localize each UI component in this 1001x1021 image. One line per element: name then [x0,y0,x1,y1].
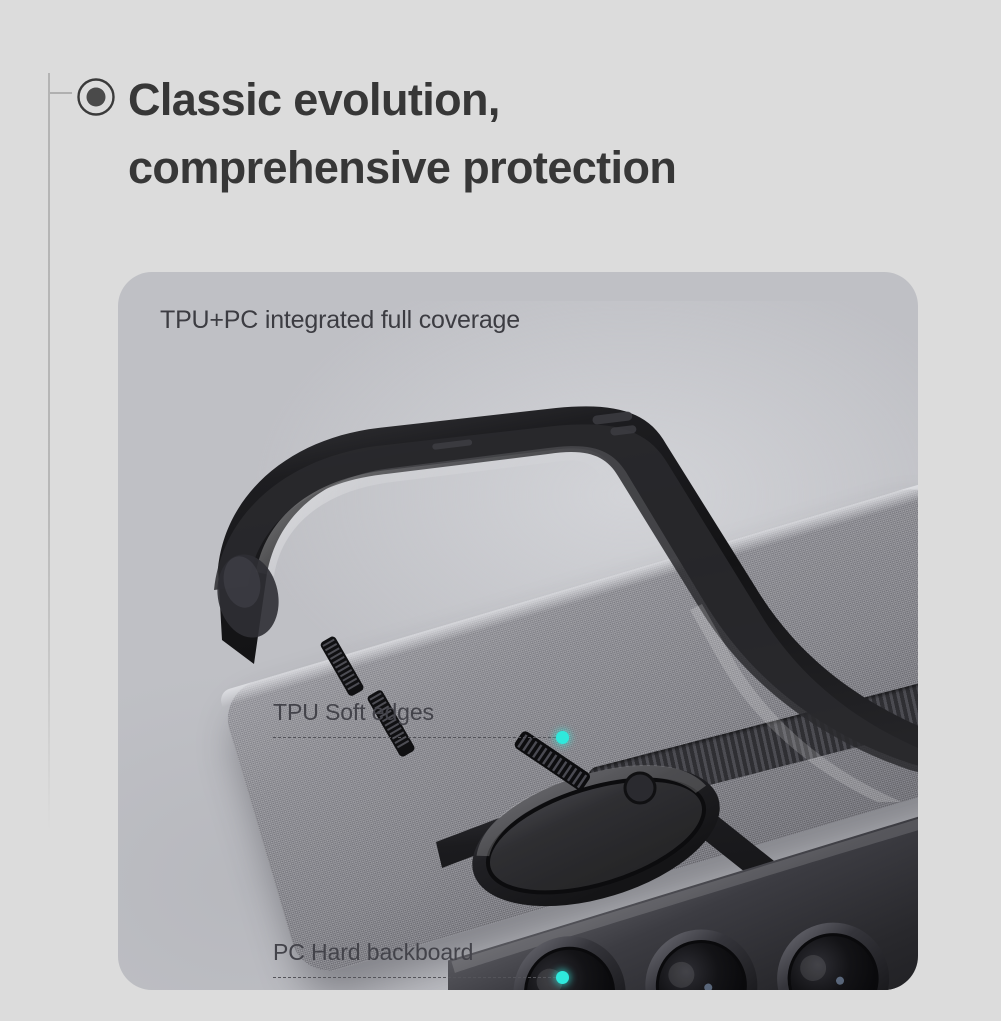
callout-label-tpu: TPU Soft edges [273,699,434,726]
product-feature-page: Classic evolution, comprehensive protect… [0,0,1001,1021]
left-tick-mark [50,92,72,94]
callout-dot-pc [556,971,569,984]
card-title: TPU+PC integrated full coverage [160,306,520,335]
page-title-line-1: Classic evolution, [128,66,928,134]
feature-card: TPU+PC integrated full coverage [118,272,918,990]
callout-label-pc: PC Hard backboard [273,939,473,966]
left-vertical-rule [48,73,50,833]
target-dot-icon [75,76,117,118]
phone-camera-module [448,777,918,990]
callout-dot-tpu [556,731,569,744]
page-title: Classic evolution, comprehensive protect… [128,66,928,202]
callout-leader-line-tpu [273,737,561,738]
page-title-line-2: comprehensive protection [128,134,928,202]
product-photo [118,272,918,990]
callout-leader-line-pc [273,977,561,978]
